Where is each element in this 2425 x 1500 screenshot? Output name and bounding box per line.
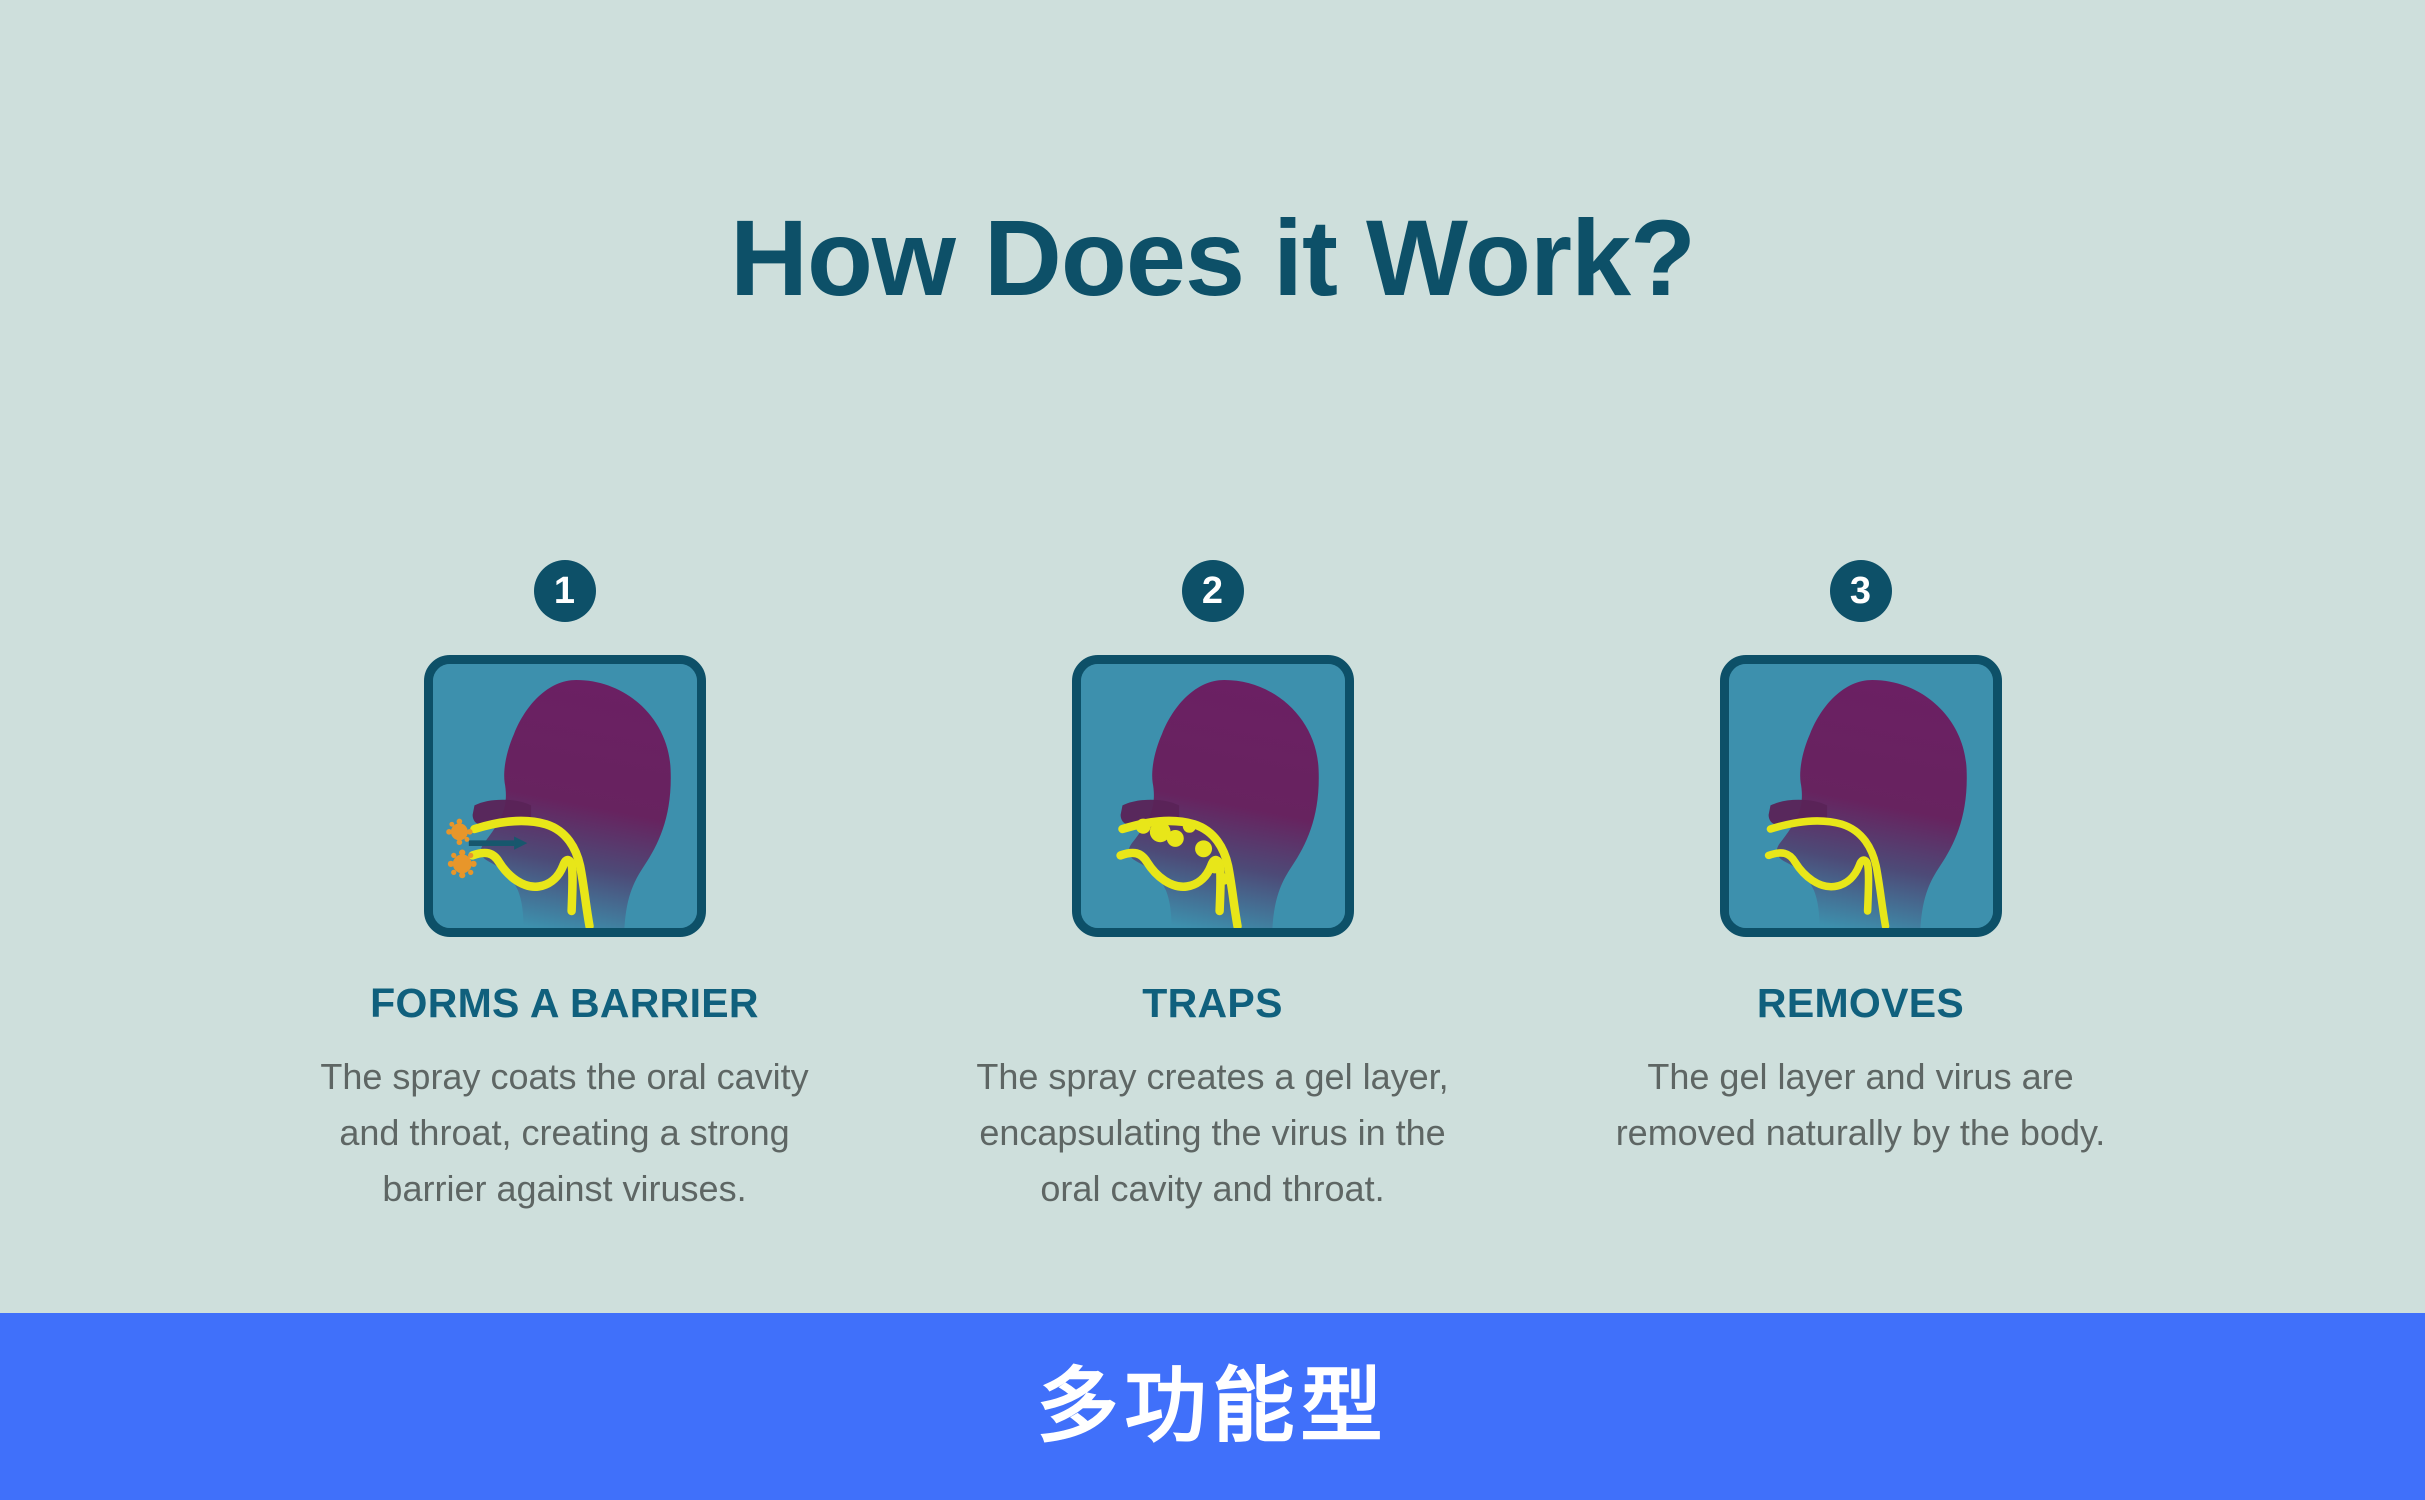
step-number-badge: 1 <box>534 560 596 622</box>
step-title: REMOVES <box>1757 979 1964 1027</box>
virus-particle <box>447 849 476 878</box>
step-2: 2 <box>889 560 1537 1217</box>
step-icon-card <box>1720 655 2002 937</box>
head-anatomy-trap-icon <box>1081 664 1345 928</box>
head-anatomy-spray-icon <box>433 664 697 928</box>
step-icon-card <box>424 655 706 937</box>
step-title: TRAPS <box>1142 979 1282 1027</box>
step-3: 3 <box>1537 560 2185 1161</box>
page-title: How Does it Work? <box>0 198 2425 318</box>
step-title: FORMS A BARRIER <box>370 979 759 1027</box>
step-description: The spray coats the oral cavity and thro… <box>315 1049 815 1217</box>
footer-bar: 多功能型 <box>0 1313 2425 1500</box>
step-number-badge: 2 <box>1182 560 1244 622</box>
step-number-badge: 3 <box>1830 560 1892 622</box>
steps-row: 1 <box>0 560 2425 1217</box>
head-anatomy-remove-icon <box>1729 664 1993 928</box>
step-description: The spray creates a gel layer, encapsula… <box>963 1049 1463 1217</box>
infographic-page: How Does it Work? 1 <box>0 0 2425 1500</box>
step-1: 1 <box>241 560 889 1217</box>
step-description: The gel layer and virus are removed natu… <box>1611 1049 2111 1161</box>
step-icon-card <box>1072 655 1354 937</box>
footer-label: 多功能型 <box>1036 1361 1388 1453</box>
